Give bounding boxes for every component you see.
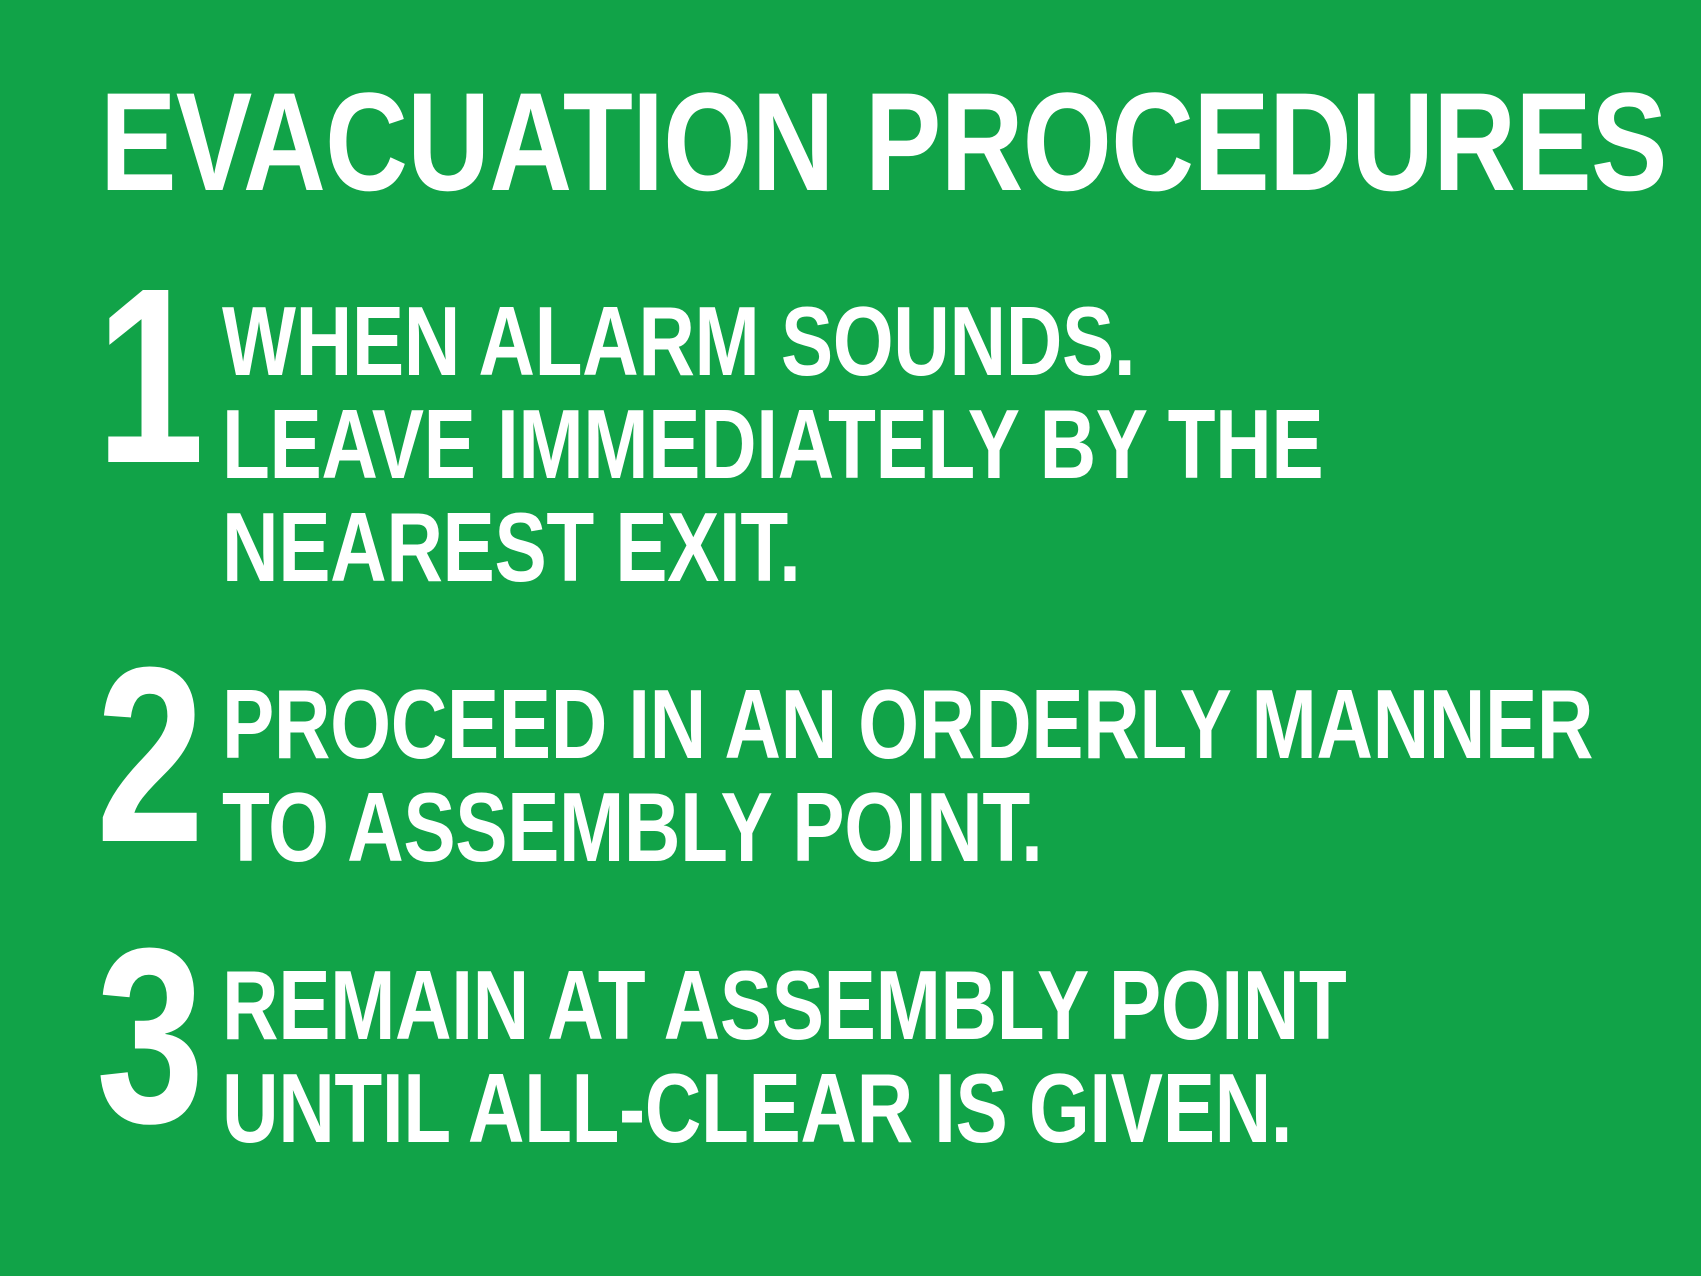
procedure-number-3: 3 xyxy=(96,926,213,1126)
procedure-line: TO ASSEMBLY POINT. xyxy=(222,776,1593,879)
procedure-number-1: 1 xyxy=(96,262,213,466)
procedure-text-3: REMAIN AT ASSEMBLY POINT UNTIL ALL-CLEAR… xyxy=(222,926,1701,1160)
list-item: 2 PROCEED IN AN ORDERLY MANNER TO ASSEMB… xyxy=(0,643,1701,879)
procedure-line: PROCEED IN AN ORDERLY MANNER xyxy=(222,673,1593,776)
procedure-line: UNTIL ALL-CLEAR IS GIVEN. xyxy=(222,1057,1405,1160)
procedure-text-1: WHEN ALARM SOUNDS. LEAVE IMMEDIATELY BY … xyxy=(222,262,1701,599)
procedure-text-2: PROCEED IN AN ORDERLY MANNER TO ASSEMBLY… xyxy=(222,643,1701,879)
procedure-line: NEAREST EXIT. xyxy=(222,496,1405,599)
procedure-line: LEAVE IMMEDIATELY BY THE xyxy=(222,393,1405,496)
evacuation-procedures-sign: EVACUATION PROCEDURES 1 WHEN ALARM SOUND… xyxy=(0,0,1701,1276)
procedure-line: WHEN ALARM SOUNDS. xyxy=(222,290,1405,393)
procedure-list: 1 WHEN ALARM SOUNDS. LEAVE IMMEDIATELY B… xyxy=(0,262,1701,1160)
procedure-number-2: 2 xyxy=(96,643,213,845)
page-title: EVACUATION PROCEDURES xyxy=(100,72,1338,212)
list-item: 1 WHEN ALARM SOUNDS. LEAVE IMMEDIATELY B… xyxy=(0,262,1701,599)
procedure-line: REMAIN AT ASSEMBLY POINT xyxy=(222,954,1405,1057)
list-item: 3 REMAIN AT ASSEMBLY POINT UNTIL ALL-CLE… xyxy=(0,926,1701,1160)
